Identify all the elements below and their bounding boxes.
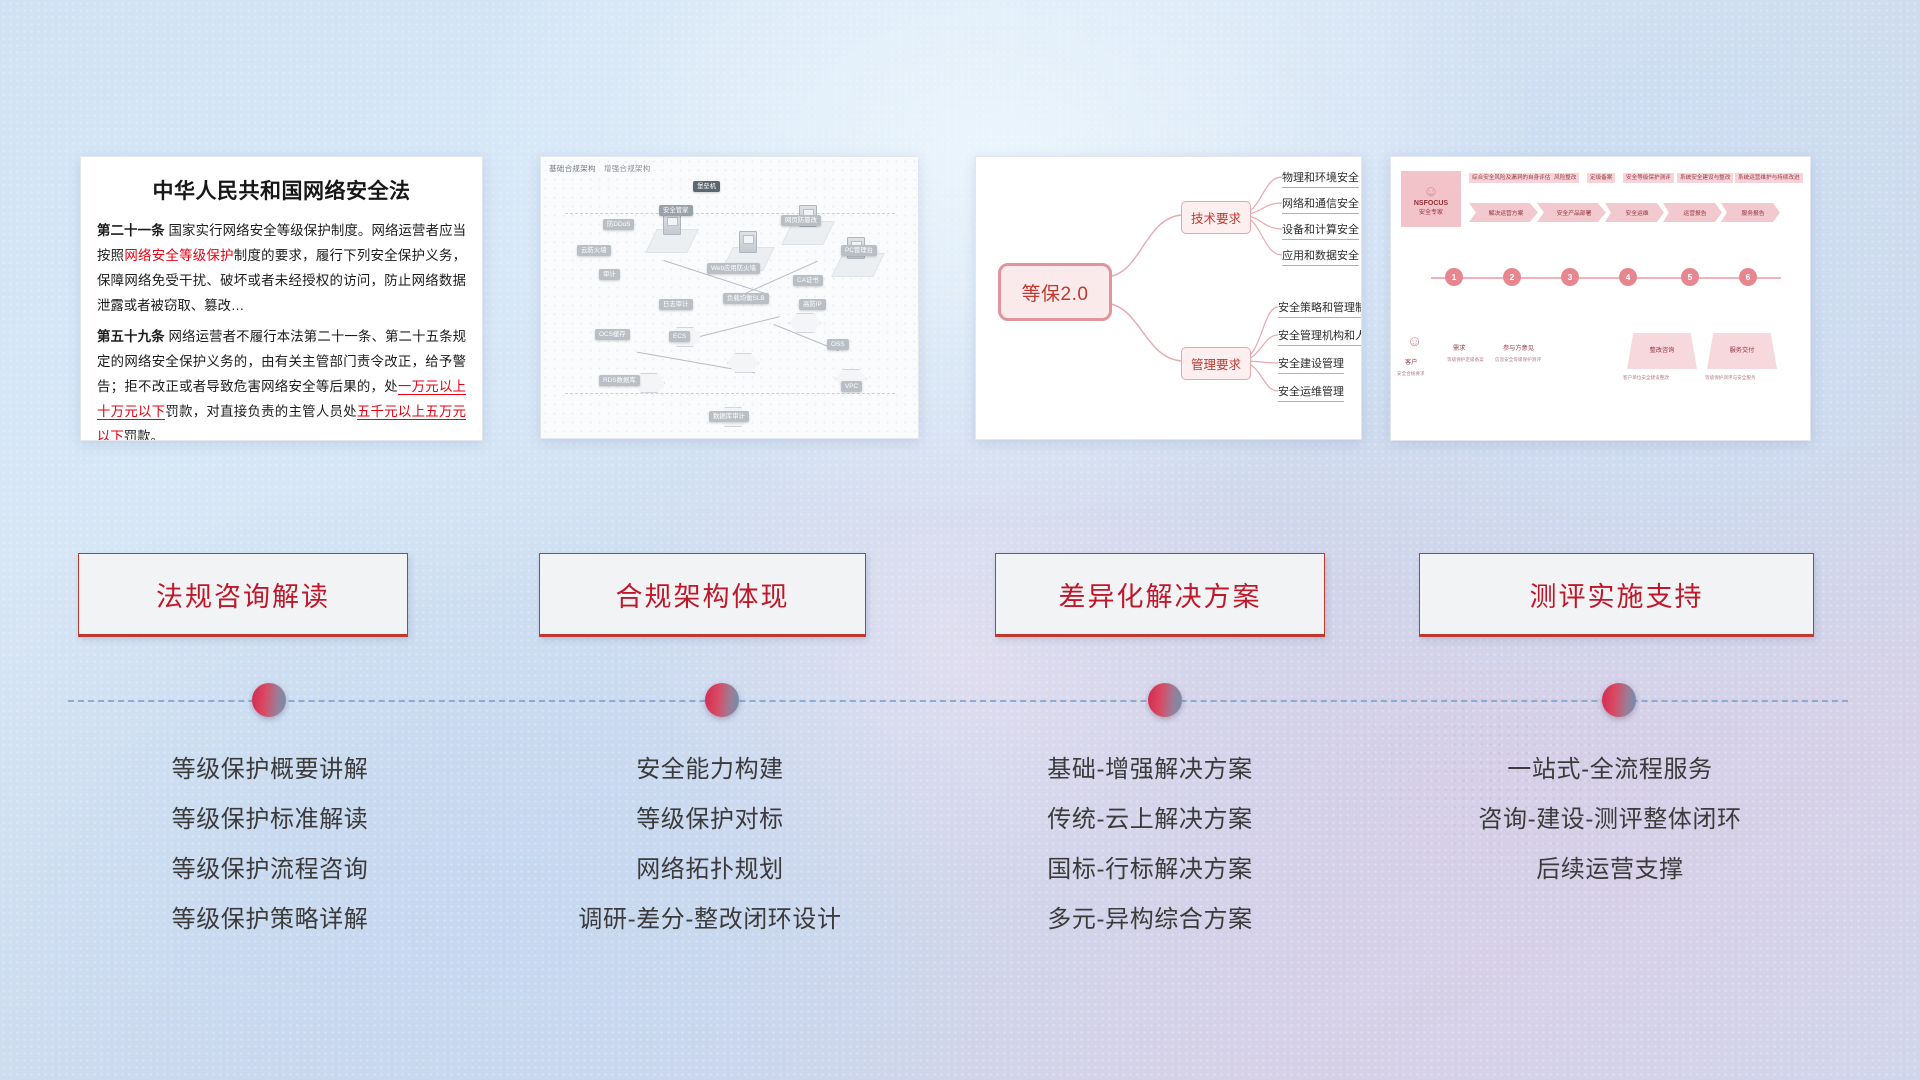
brand-subtitle: 安全专家 (1419, 207, 1443, 216)
arch-label: 云防火墙 (577, 245, 611, 256)
architecture-header-left: 基础合规架构 (549, 164, 596, 173)
poster-bottom-sub: 安全合规要求 (1397, 371, 1425, 377)
poster-bottom-box-sub: 客户单位安全建设整改 (1623, 375, 1669, 381)
list-item: 等级保护对标 (500, 795, 920, 845)
poster-chevron: 解决运营方案 (1469, 203, 1538, 222)
poster-bottom-sub: 等级保护定级备案 (1447, 357, 1484, 363)
mindmap-canvas: 等保2.0 技术要求 管理要求 物理和环境安全 网络和通信安全 设备和计算安全 … (976, 157, 1361, 439)
arch-label: CA证书 (793, 275, 823, 286)
poster-top-tag: 定级备案 (1587, 173, 1615, 183)
server-icon (739, 231, 757, 253)
poster-canvas: ☺ NSFOCUS 安全专家 综合安全风险及漏洞的自身评估 风险整改 定级备案 … (1391, 157, 1810, 440)
poster-bottom-box-title: 整改咨询 (1650, 347, 1675, 355)
poster-bottom-label: 需求 (1453, 343, 1465, 352)
mindmap-leaf: 网络和通信安全 (1282, 195, 1359, 214)
article-21-label: 第二十一条 (97, 223, 165, 238)
poster-chevron: 安全运维 (1605, 203, 1664, 222)
poster-chevron: 服务报告 (1721, 203, 1780, 222)
mindmap-leaf: 安全管理机构和人员 (1278, 327, 1362, 346)
mindmap-leaf: 应用和数据安全 (1282, 247, 1359, 266)
timeline-dot-4[interactable] (1602, 683, 1636, 717)
mindmap-root-node: 等保2.0 (998, 263, 1112, 321)
poster-bottom-box: 整改咨询 (1627, 333, 1697, 369)
law-article-59: 第五十九条 网络运营者不履行本法第二十一条、第二十五条规定的网络安全保护义务的，… (97, 324, 466, 441)
poster-step-circle: 3 (1561, 268, 1579, 286)
poster-top-tag: 系统运营维护与持续改进 (1735, 173, 1803, 183)
arch-label: 防DDoS (603, 219, 634, 230)
section-title-box-1[interactable]: 法规咨询解读 (78, 553, 408, 637)
poster-top-tag: 风险整改 (1551, 173, 1579, 183)
list-item: 基础-增强解决方案 (940, 745, 1360, 795)
poster-top-tag: 安全等级保护测评 (1623, 173, 1674, 183)
section-title-box-4[interactable]: 测评实施支持 (1419, 553, 1814, 637)
poster-top-tag: 系统安全建设与整改 (1677, 173, 1733, 183)
poster-bottom-sub: 信息安全等级保护测评 (1495, 357, 1541, 363)
arch-label: PC管理台 (841, 245, 877, 256)
list-item: 等级保护标准解读 (60, 795, 480, 845)
section-list-3: 基础-增强解决方案 传统-云上解决方案 国标-行标解决方案 多元-异构综合方案 (940, 745, 1360, 945)
list-item: 网络拓扑规划 (500, 845, 920, 895)
arch-label: ECS (669, 331, 690, 342)
list-item: 等级保护流程咨询 (60, 845, 480, 895)
arch-divider (565, 213, 895, 214)
poster-top-tag: 综合安全风险及漏洞的自身评估 (1469, 173, 1553, 183)
list-item: 后续运营支撑 (1380, 845, 1840, 895)
architecture-header-right: 增强合规架构 (604, 164, 651, 173)
brand-name: NSFOCUS (1414, 200, 1448, 207)
poster-bottom-label: 客户 (1405, 357, 1417, 366)
poster-step-circle: 5 (1681, 268, 1699, 286)
arch-divider (565, 393, 895, 394)
section-title-box-3[interactable]: 差异化解决方案 (995, 553, 1325, 637)
list-item: 多元-异构综合方案 (940, 895, 1360, 945)
section-title-box-2[interactable]: 合规架构体现 (539, 553, 866, 637)
mindmap-leaf: 物理和环境安全 (1282, 169, 1359, 188)
nsfocus-brand-block: ☺ NSFOCUS 安全专家 (1401, 171, 1461, 227)
list-item: 等级保护策略详解 (60, 895, 480, 945)
list-item: 调研-差分-整改闭环设计 (500, 895, 920, 945)
arch-label: 负载均衡SLB (723, 293, 769, 304)
poster-bottom-box: 服务交付 (1707, 333, 1777, 369)
list-item: 一站式-全流程服务 (1380, 745, 1840, 795)
section-title-1: 法规咨询解读 (156, 575, 330, 614)
arch-label: 日志审计 (659, 299, 693, 310)
section-title-4: 测评实施支持 (1530, 575, 1704, 614)
arch-label: 网页防篡改 (781, 215, 821, 226)
law-content: 中华人民共和国网络安全法 第二十一条 国家实行网络安全等级保护制度。网络运营者应… (81, 157, 482, 441)
poster-bottom-box-sub: 等级保护测评与安全服务 (1705, 375, 1756, 381)
card-nsfocus-service-flow[interactable]: ☺ NSFOCUS 安全专家 综合安全风险及漏洞的自身评估 风险整改 定级备案 … (1390, 156, 1811, 441)
list-item: 传统-云上解决方案 (940, 795, 1360, 845)
mindmap-branch-management: 管理要求 (1181, 347, 1251, 380)
arch-label: 安全管家 (659, 205, 693, 216)
arch-label: VPC (841, 381, 862, 392)
law-article-21: 第二十一条 国家实行网络安全等级保护制度。网络运营者应当按照网络安全等级保护制度… (97, 218, 466, 318)
section-list-1: 等级保护概要讲解 等级保护标准解读 等级保护流程咨询 等级保护策略详解 (60, 745, 480, 945)
poster-step-line (1431, 277, 1781, 279)
poster-bottom-box-title: 服务交付 (1730, 347, 1755, 355)
article-59-label: 第五十九条 (97, 329, 165, 344)
mindmap-leaf: 安全运维管理 (1278, 383, 1344, 402)
article-59-text-b: 罚款，对直接负责的主管人员处 (165, 404, 356, 419)
poster-chevron: 安全产品部署 (1537, 203, 1606, 222)
arch-label: OCS缓存 (595, 329, 630, 340)
arch-label: 高防IP (799, 299, 826, 310)
section-list-4: 一站式-全流程服务 咨询-建设-测评整体闭环 后续运营支撑 (1380, 745, 1840, 895)
mindmap-leaf: 安全策略和管理制度 (1278, 299, 1362, 318)
mindmap-leaf: 安全建设管理 (1278, 355, 1344, 374)
timeline-dot-1[interactable] (252, 683, 286, 717)
timeline-dashed-line (68, 700, 1848, 702)
list-item: 国标-行标解决方案 (940, 845, 1360, 895)
arch-label: RDS数据库 (599, 375, 640, 386)
poster-step-circle: 1 (1445, 268, 1463, 286)
list-item: 等级保护概要讲解 (60, 745, 480, 795)
slide-stage: 中华人民共和国网络安全法 第二十一条 国家实行网络安全等级保护制度。网络运营者应… (0, 0, 1920, 1080)
arch-label: OSS (827, 339, 849, 350)
mindmap-branch-technical: 技术要求 (1181, 201, 1251, 234)
timeline-dot-3[interactable] (1148, 683, 1182, 717)
list-item: 安全能力构建 (500, 745, 920, 795)
customer-person-icon: ☺ (1407, 333, 1422, 350)
expert-person-icon: ☺ (1423, 183, 1438, 200)
arch-label: Web应用防火墙 (707, 263, 760, 274)
mindmap-leaf: 设备和计算安全 (1282, 221, 1359, 240)
poster-step-circle: 6 (1739, 268, 1757, 286)
architecture-header: 基础合规架构增强合规架构 (549, 163, 651, 174)
timeline-dot-2[interactable] (705, 683, 739, 717)
poster-chevron: 运营报告 (1663, 203, 1722, 222)
card-cybersecurity-law[interactable]: 中华人民共和国网络安全法 第二十一条 国家实行网络安全等级保护制度。网络运营者应… (80, 156, 483, 441)
card-dengbao-mindmap[interactable]: 等保2.0 技术要求 管理要求 物理和环境安全 网络和通信安全 设备和计算安全 … (975, 156, 1362, 440)
section-list-2: 安全能力构建 等级保护对标 网络拓扑规划 调研-差分-整改闭环设计 (500, 745, 920, 945)
arch-label: 堡垒机 (693, 181, 720, 192)
section-title-3: 差异化解决方案 (1059, 575, 1262, 614)
section-title-2: 合规架构体现 (616, 575, 790, 614)
article-21-highlight: 网络安全等级保护 (124, 248, 233, 263)
architecture-canvas: 基础合规架构增强合规架构 (541, 157, 918, 438)
list-item: 咨询-建设-测评整体闭环 (1380, 795, 1840, 845)
article-59-text-c: 罚款。 (124, 429, 164, 441)
arch-label: 数据库审计 (709, 411, 749, 422)
poster-step-circle: 4 (1619, 268, 1637, 286)
poster-bottom-label: 参与方意见 (1503, 343, 1534, 352)
card-compliance-architecture[interactable]: 基础合规架构增强合规架构 (540, 156, 919, 439)
server-icon (663, 213, 681, 235)
law-title: 中华人民共和国网络安全法 (97, 175, 466, 205)
poster-step-circle: 2 (1503, 268, 1521, 286)
arch-label: 审计 (599, 269, 620, 280)
